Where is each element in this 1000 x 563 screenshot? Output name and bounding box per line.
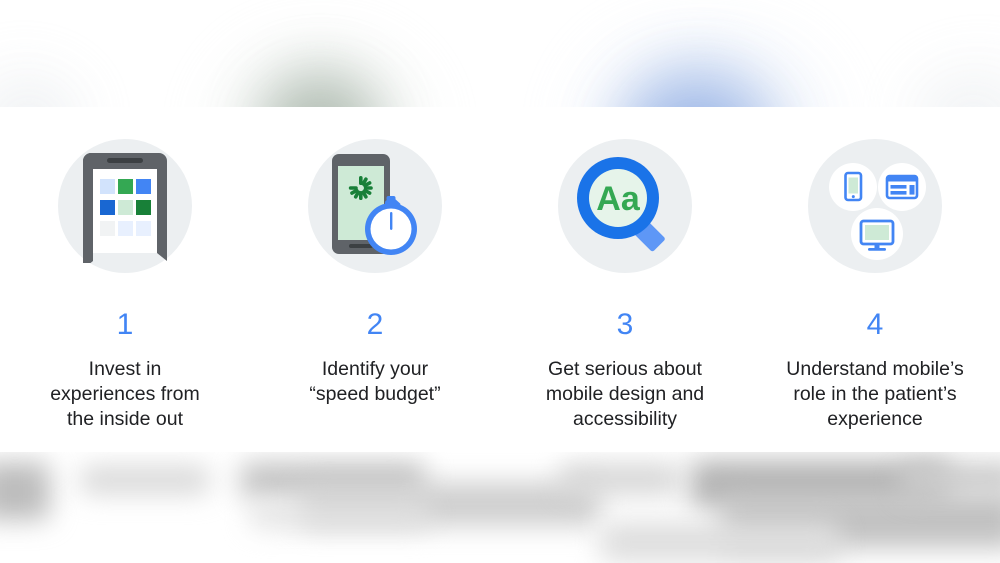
step-card-1: 1 Invest in experiences from the inside … xyxy=(7,107,243,432)
bottom-blurred-band xyxy=(0,452,1000,563)
step-card-3: Aa 3 Get serious about mobile design and… xyxy=(507,107,743,432)
magnifier-typography-icon: Aa xyxy=(558,139,692,273)
blur-text-block xyxy=(80,466,210,494)
step-caption: Get serious about mobile design and acce… xyxy=(546,357,704,432)
blur-text-block xyxy=(0,462,50,520)
step-card-2: 2 Identify your “speed budget” xyxy=(257,107,493,407)
step-card-4: 4 Understand mobile’s role in the patien… xyxy=(757,107,993,432)
step-number: 3 xyxy=(617,310,634,340)
mobile-phone-icon xyxy=(829,163,877,211)
blur-text-block xyxy=(250,504,430,528)
phone-stopwatch-icon xyxy=(308,139,442,273)
blur-blob-left xyxy=(0,60,90,107)
top-blurred-band xyxy=(0,0,1000,107)
desktop-monitor-icon xyxy=(851,208,903,260)
step-caption: Understand mobile’s role in the patient’… xyxy=(786,357,963,432)
slide-root: 1 Invest in experiences from the inside … xyxy=(0,0,1000,563)
blur-text-block xyxy=(560,464,680,494)
phone-app-grid-icon xyxy=(58,139,192,273)
step-number: 4 xyxy=(867,310,884,340)
blur-blob-right xyxy=(900,55,1000,107)
steps-container: 1 Invest in experiences from the inside … xyxy=(0,107,1000,452)
step-number: 1 xyxy=(117,310,134,340)
step-caption: Identify your “speed budget” xyxy=(309,357,440,407)
step-number: 2 xyxy=(367,310,384,340)
browser-window-icon xyxy=(878,163,926,211)
blur-text-block xyxy=(900,462,1000,496)
blur-text-block xyxy=(600,522,840,562)
step-caption: Invest in experiences from the inside ou… xyxy=(50,357,200,432)
multi-device-icon xyxy=(808,139,942,273)
magnifier-letters: Aa xyxy=(596,180,641,218)
